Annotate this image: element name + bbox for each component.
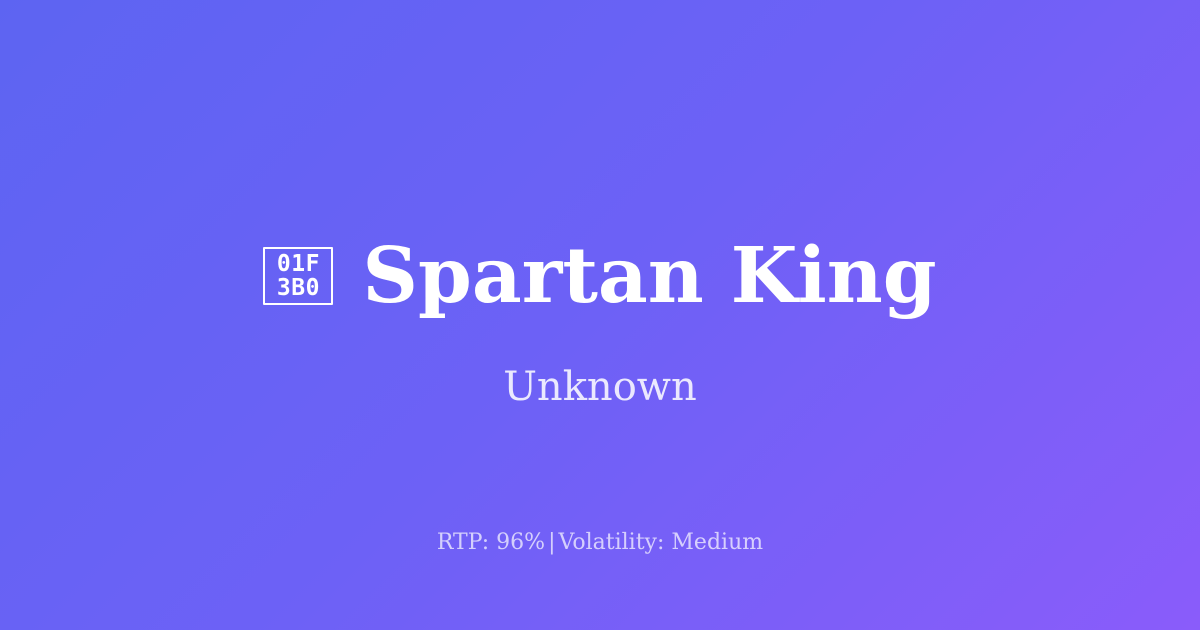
slot-machine-icon-codepoint-top: 01F xyxy=(277,252,320,276)
game-provider-subtitle: Unknown xyxy=(0,363,1200,411)
slot-machine-icon: 01F 3B0 xyxy=(263,247,333,305)
rtp-label: RTP: xyxy=(437,530,489,555)
slot-machine-icon-codepoint-bottom: 3B0 xyxy=(277,276,320,300)
page-title: Spartan King xyxy=(362,234,936,318)
rtp-value: 96% xyxy=(496,530,545,555)
volatility-label: Volatility: xyxy=(559,530,665,555)
title-row: 01F 3B0 Spartan King xyxy=(0,231,1200,321)
game-og-card: 01F 3B0 Spartan King Unknown RTP: 96%|Vo… xyxy=(0,0,1200,630)
volatility-value: Medium xyxy=(671,530,763,555)
meta-separator: | xyxy=(545,530,558,555)
game-meta-line: RTP: 96%|Volatility: Medium xyxy=(0,528,1200,558)
